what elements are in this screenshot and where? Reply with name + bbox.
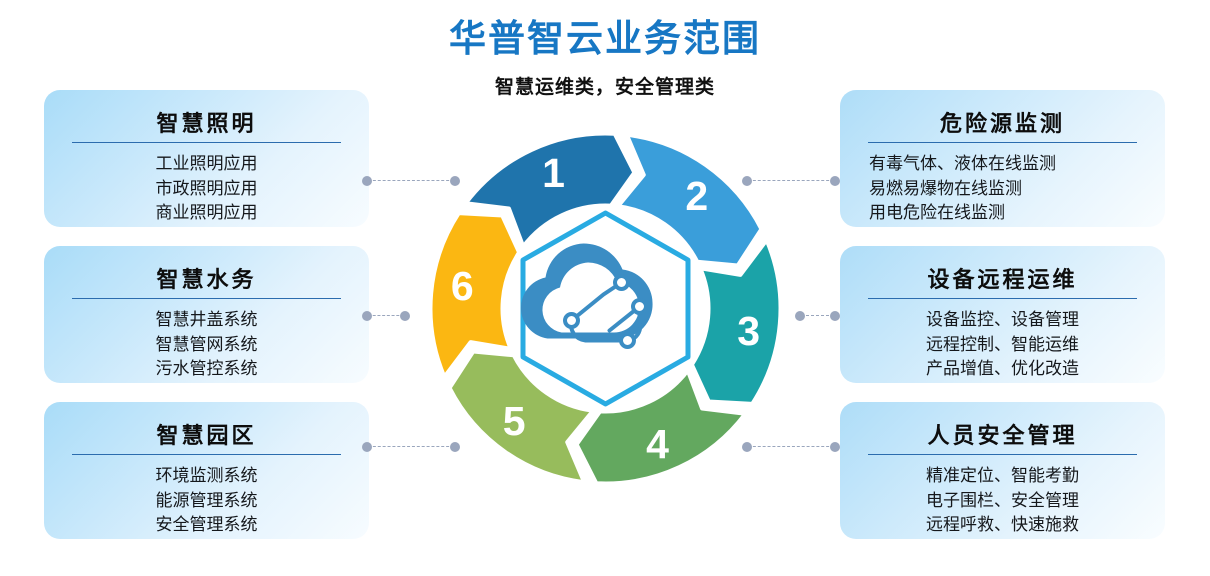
card-right-3[interactable]: 人员安全管理 精准定位、智能考勤 电子围栏、安全管理 远程呼救、快速施救 <box>840 402 1165 539</box>
list-item: 产品增值、优化改造 <box>840 357 1165 382</box>
cycle-wheel: 123456 <box>398 101 813 516</box>
card-left-3[interactable]: 智慧园区 环境监测系统 能源管理系统 安全管理系统 <box>44 402 369 539</box>
card-right-2-divider <box>868 298 1137 299</box>
card-left-3-heading: 智慧园区 <box>44 418 369 450</box>
card-right-1-divider <box>868 142 1137 143</box>
segment-1-number: 1 <box>542 150 565 196</box>
card-right-2-heading: 设备远程运维 <box>840 262 1165 294</box>
card-right-3-divider <box>868 454 1137 455</box>
list-item: 市政照明应用 <box>44 177 369 202</box>
list-item: 环境监测系统 <box>44 464 369 489</box>
list-item: 污水管控系统 <box>44 357 369 382</box>
card-left-2[interactable]: 智慧水务 智慧井盖系统 智慧管网系统 污水管控系统 <box>44 246 369 383</box>
connector-dot <box>362 176 372 186</box>
card-left-2-divider <box>72 298 341 299</box>
list-item: 商业照明应用 <box>44 201 369 226</box>
card-right-1-list: 有毒气体、液体在线监测 易燃易爆物在线监测 用电危险在线监测 <box>840 152 1165 226</box>
list-item: 工业照明应用 <box>44 152 369 177</box>
card-left-2-list: 智慧井盖系统 智慧管网系统 污水管控系统 <box>44 308 369 382</box>
infographic-canvas: 华普智云业务范围 智慧运维类，安全管理类 智慧照明 工业照明应用 市政照明应用 … <box>0 0 1210 576</box>
list-item: 远程呼救、快速施救 <box>840 513 1165 538</box>
list-item: 智慧井盖系统 <box>44 308 369 333</box>
segment-5-number: 5 <box>503 398 526 444</box>
card-left-1-list: 工业照明应用 市政照明应用 商业照明应用 <box>44 152 369 226</box>
list-item: 电子围栏、安全管理 <box>840 489 1165 514</box>
card-left-1-heading: 智慧照明 <box>44 106 369 138</box>
card-right-1-heading: 危险源监测 <box>840 106 1165 138</box>
card-left-3-list: 环境监测系统 能源管理系统 安全管理系统 <box>44 464 369 538</box>
connector-dot <box>362 442 372 452</box>
list-item: 安全管理系统 <box>44 513 369 538</box>
card-right-2[interactable]: 设备远程运维 设备监控、设备管理 远程控制、智能运维 产品增值、优化改造 <box>840 246 1165 383</box>
list-item: 易燃易爆物在线监测 <box>869 177 1165 202</box>
list-item: 有毒气体、液体在线监测 <box>869 152 1165 177</box>
list-item: 精准定位、智能考勤 <box>840 464 1165 489</box>
card-right-2-list: 设备监控、设备管理 远程控制、智能运维 产品增值、优化改造 <box>840 308 1165 382</box>
connector-dot <box>830 442 840 452</box>
card-right-1[interactable]: 危险源监测 有毒气体、液体在线监测 易燃易爆物在线监测 用电危险在线监测 <box>840 90 1165 227</box>
list-item: 能源管理系统 <box>44 489 369 514</box>
segment-2-number: 2 <box>685 173 708 219</box>
list-item: 设备监控、设备管理 <box>840 308 1165 333</box>
connector-dot <box>830 311 840 321</box>
card-right-3-list: 精准定位、智能考勤 电子围栏、安全管理 远程呼救、快速施救 <box>840 464 1165 538</box>
connector-dot <box>830 176 840 186</box>
card-right-3-heading: 人员安全管理 <box>840 418 1165 450</box>
connector-dot <box>362 311 372 321</box>
list-item: 智慧管网系统 <box>44 333 369 358</box>
card-left-1-divider <box>72 142 341 143</box>
page-title: 华普智云业务范围 <box>0 8 1210 62</box>
list-item: 远程控制、智能运维 <box>840 333 1165 358</box>
segment-4-number: 4 <box>646 421 669 467</box>
card-left-3-divider <box>72 454 341 455</box>
card-left-1[interactable]: 智慧照明 工业照明应用 市政照明应用 商业照明应用 <box>44 90 369 227</box>
card-left-2-heading: 智慧水务 <box>44 262 369 294</box>
segment-6-number: 6 <box>451 263 474 309</box>
list-item: 用电危险在线监测 <box>869 201 1165 226</box>
segment-3-number: 3 <box>737 308 760 354</box>
